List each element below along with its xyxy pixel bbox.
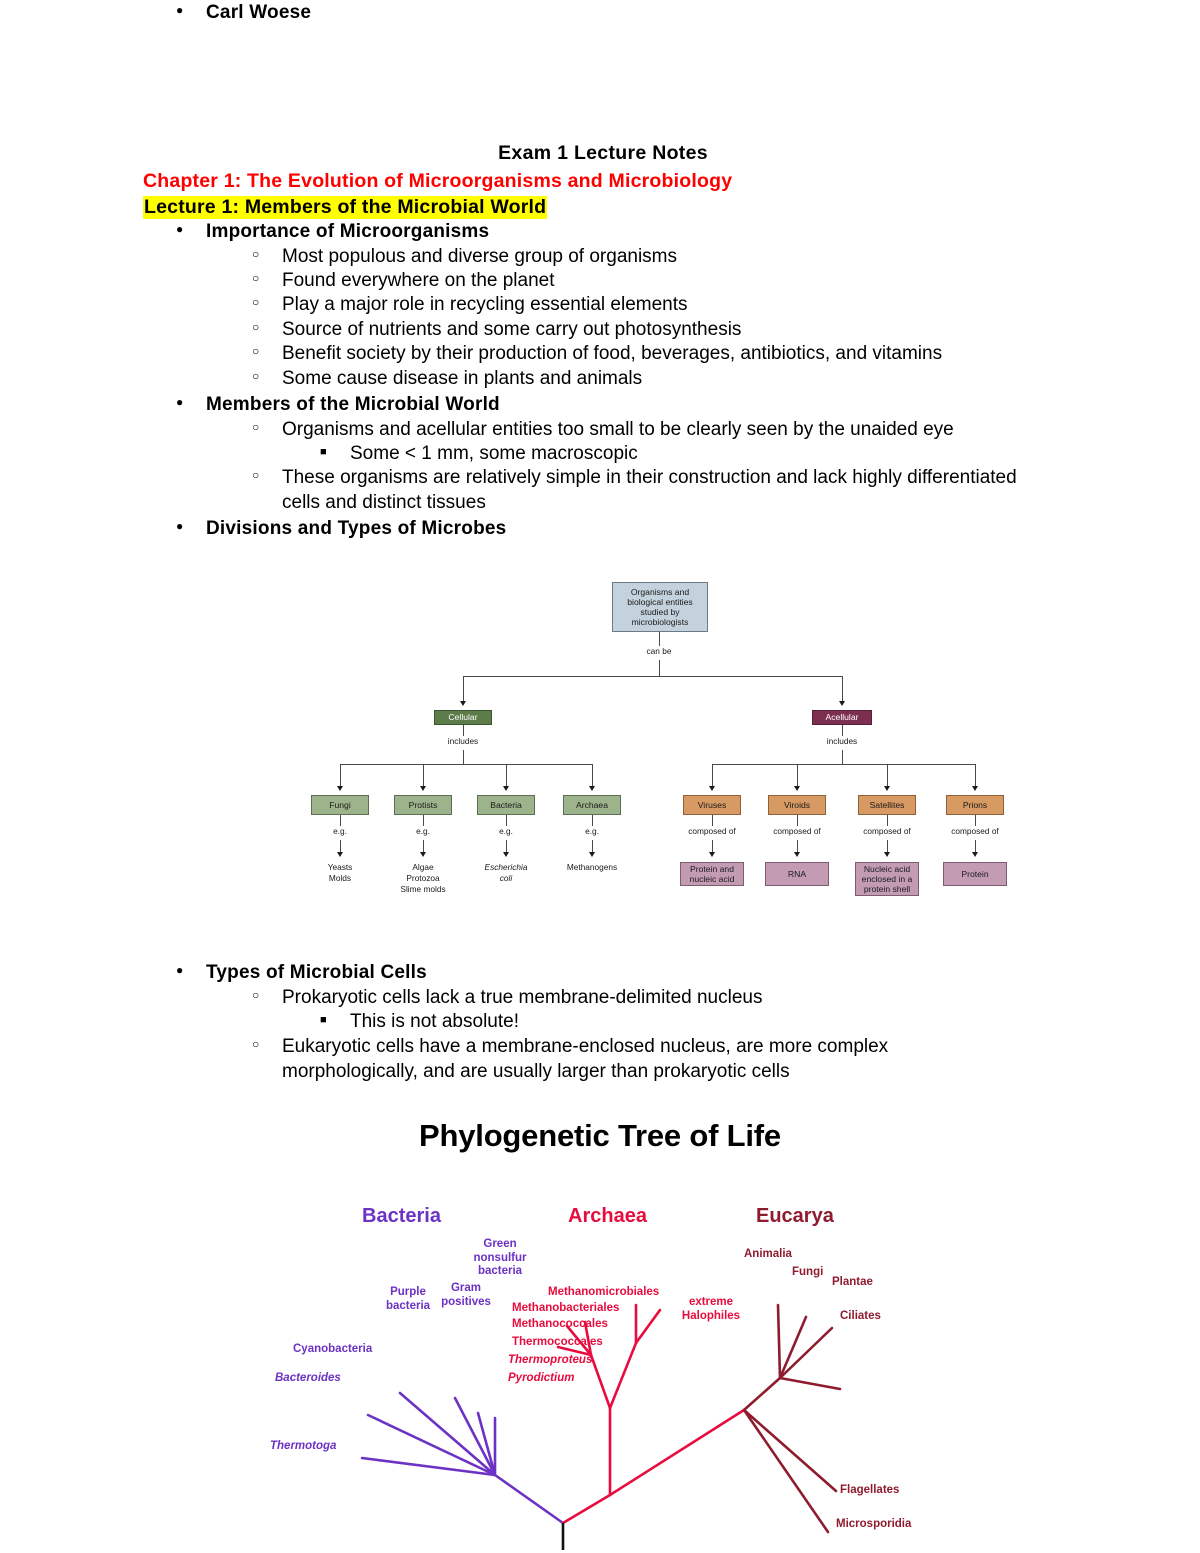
bullet-disc-icon <box>176 0 206 20</box>
bullet-disc-icon <box>176 392 206 412</box>
outline-item-l2: Found everywhere on the planet <box>252 268 555 293</box>
taxon-label-eucarya-4: Flagellates <box>840 1484 940 1498</box>
taxon-label-eucarya-5: Microsporidia <box>836 1518 948 1532</box>
arrow-head-icon <box>884 786 890 791</box>
outline-item-l2: Prokaryotic cells lack a true membrane-d… <box>252 985 762 1010</box>
connector-line <box>887 764 888 788</box>
arrow-head-icon <box>794 852 800 857</box>
connector-line <box>842 676 843 703</box>
bullet-disc-icon <box>176 219 206 239</box>
taxon-label-archaea-1: Methanobacteriales <box>512 1302 658 1316</box>
bullet-circle-icon <box>252 317 282 337</box>
bullet-circle-icon <box>252 268 282 288</box>
taxon-label-archaea-6: extreme Halophiles <box>670 1296 752 1323</box>
bullet-square-icon <box>320 441 350 461</box>
page-title: Exam 1 Lecture Notes <box>143 142 1063 165</box>
bullet-circle-icon <box>252 417 282 437</box>
bullet-disc-icon <box>176 516 206 536</box>
connector-line <box>842 725 843 736</box>
connector-line <box>842 750 843 764</box>
flow-composition-box: Protein <box>943 862 1007 886</box>
connector-line <box>712 764 713 788</box>
flow-eg-label: e.g. <box>567 826 617 836</box>
arrow-head-icon <box>884 852 890 857</box>
flow-eg-label: e.g. <box>481 826 531 836</box>
bullet-circle-icon <box>252 244 282 264</box>
flow-composed-of-label: composed of <box>672 826 752 836</box>
connector-line <box>506 815 507 826</box>
connector-line <box>797 815 798 826</box>
bullet-square-icon <box>320 1009 350 1029</box>
taxon-label-archaea-5: Pyrodictium <box>508 1372 608 1386</box>
domain-label-archaea: Archaea <box>568 1205 647 1228</box>
arrow-head-icon <box>503 786 509 791</box>
connector-line <box>797 764 798 788</box>
flow-composition-box: RNA <box>765 862 829 886</box>
flow-type-box-prions: Prions <box>946 795 1004 815</box>
taxon-label-bacteria-4: Bacteroides <box>275 1372 370 1386</box>
connector-line <box>975 764 976 788</box>
outline-item-label: Organisms and acellular entities too sma… <box>282 417 954 442</box>
bullet-disc-icon <box>176 960 206 980</box>
taxon-label-bacteria-0: Green nonsulfur bacteria <box>455 1238 545 1279</box>
flow-type-box-satellites: Satellites <box>858 795 916 815</box>
taxon-label-bacteria-3: Cyanobacteria <box>293 1343 403 1357</box>
document-page: Exam 1 Lecture Notes Chapter 1: The Evol… <box>0 0 1200 1553</box>
arrow-head-icon <box>972 786 978 791</box>
outline-item-l1: Types of Microbial Cells <box>176 960 427 985</box>
flow-composed-of-label: composed of <box>847 826 927 836</box>
connector-line <box>340 815 341 826</box>
outline-item-l2: Source of nutrients and some carry out p… <box>252 317 741 342</box>
outline-item-l1: Members of the Microbial World <box>176 392 500 417</box>
arrow-head-icon <box>420 852 426 857</box>
bullet-circle-icon <box>252 1034 282 1054</box>
domain-label-eucarya: Eucarya <box>756 1205 834 1228</box>
bullet-circle-icon <box>252 341 282 361</box>
connector-line <box>463 676 842 677</box>
taxon-label-eucarya-3: Ciliates <box>840 1310 924 1324</box>
outline-item-label: Carl Woese <box>206 0 311 25</box>
connector-line <box>463 676 464 703</box>
outline-item-l2: Some cause disease in plants and animals <box>252 366 642 391</box>
connector-line <box>887 815 888 826</box>
domain-label-bacteria: Bacteria <box>362 1205 441 1228</box>
flow-example-text: Algae Protozoa Slime molds <box>375 862 471 894</box>
connector-line <box>423 764 424 788</box>
outline-item-label: These organisms are relatively simple in… <box>282 465 1022 515</box>
outline-item-label: Types of Microbial Cells <box>206 960 427 985</box>
arrow-head-icon <box>709 786 715 791</box>
phylogenetic-tree-figure: Phylogenetic Tree of Life <box>0 1110 1200 1550</box>
outline-item-label: Prokaryotic cells lack a true membrane-d… <box>282 985 762 1010</box>
connector-line <box>712 764 975 765</box>
flow-branch-connector-label: includes <box>812 736 872 746</box>
arrow-head-icon <box>709 852 715 857</box>
outline-item-label: Benefit society by their production of f… <box>282 341 942 366</box>
taxon-label-bacteria-2: Purple bacteria <box>370 1286 446 1313</box>
bullet-circle-icon <box>252 292 282 312</box>
bullet-circle-icon <box>252 366 282 386</box>
connector-line <box>712 815 713 826</box>
flow-example-text: Methanogens <box>544 862 640 873</box>
arrow-head-icon <box>589 852 595 857</box>
outline-item-l1: Carl Woese <box>176 0 311 25</box>
outline-item-l2: Eukaryotic cells have a membrane-enclose… <box>252 1034 1022 1084</box>
taxon-label-archaea-2: Methanococcales <box>512 1318 647 1332</box>
arrow-head-icon <box>337 786 343 791</box>
arrow-head-icon <box>337 852 343 857</box>
arrow-head-icon <box>794 786 800 791</box>
outline-item-label: Divisions and Types of Microbes <box>206 516 506 541</box>
flow-composed-of-label: composed of <box>935 826 1015 836</box>
lecture-heading: Lecture 1: Members of the Microbial Worl… <box>143 196 547 219</box>
arrow-head-icon <box>460 701 466 706</box>
outline-item-l1: Divisions and Types of Microbes <box>176 516 506 541</box>
outline-item-label: Eukaryotic cells have a membrane-enclose… <box>282 1034 1022 1084</box>
arrow-head-icon <box>589 786 595 791</box>
taxon-label-bacteria-5: Thermotoga <box>270 1440 370 1454</box>
taxon-label-archaea-3: Thermococcales <box>512 1336 634 1350</box>
outline-item-l3: Some < 1 mm, some macroscopic <box>320 441 638 466</box>
connector-line <box>659 632 660 646</box>
taxon-label-eucarya-2: Plantae <box>832 1276 908 1290</box>
taxon-label-archaea-4: Thermoproteus <box>508 1354 623 1368</box>
chapter-heading: Chapter 1: The Evolution of Microorganis… <box>143 170 732 193</box>
connector-line <box>659 660 660 676</box>
flow-example-text: Yeasts Molds <box>292 862 388 884</box>
flow-composed-of-label: composed of <box>757 826 837 836</box>
flow-type-box-viruses: Viruses <box>683 795 741 815</box>
flow-type-box-fungi: Fungi <box>311 795 369 815</box>
connector-line <box>592 764 593 788</box>
bullet-circle-icon <box>252 465 282 485</box>
outline-item-label: Some cause disease in plants and animals <box>282 366 642 391</box>
connector-line <box>975 815 976 826</box>
bullet-circle-icon <box>252 985 282 1005</box>
outline-item-label: Found everywhere on the planet <box>282 268 555 293</box>
connector-line <box>592 815 593 826</box>
flow-example-text: Escherichia coli <box>458 862 554 884</box>
outline-item-l2: Play a major role in recycling essential… <box>252 292 688 317</box>
outline-item-l2: Most populous and diverse group of organ… <box>252 244 677 269</box>
flow-branch-connector-label: includes <box>433 736 493 746</box>
connector-line <box>340 764 592 765</box>
connector-line <box>463 725 464 736</box>
outline-item-l3: This is not absolute! <box>320 1009 519 1034</box>
outline-item-label: Source of nutrients and some carry out p… <box>282 317 741 342</box>
flow-composition-box: Protein and nucleic acid <box>680 862 744 886</box>
outline-item-l1: Importance of Microorganisms <box>176 219 489 244</box>
flow-composition-box: Nucleic acid enclosed in a protein shell <box>855 862 919 896</box>
flow-type-box-archaea: Archaea <box>563 795 621 815</box>
taxon-label-eucarya-0: Animalia <box>744 1248 826 1262</box>
connector-line <box>340 764 341 788</box>
outline-item-l2: These organisms are relatively simple in… <box>252 465 1022 515</box>
microbe-divisions-diagram: Organisms and biological entities studie… <box>0 560 1200 950</box>
connector-line <box>463 750 464 764</box>
flow-eg-label: e.g. <box>398 826 448 836</box>
flow-eg-label: e.g. <box>315 826 365 836</box>
connector-line <box>506 764 507 788</box>
outline-item-label: Some < 1 mm, some macroscopic <box>350 441 638 466</box>
flow-type-box-viroids: Viroids <box>768 795 826 815</box>
outline-item-label: Importance of Microorganisms <box>206 219 489 244</box>
outline-item-l2: Organisms and acellular entities too sma… <box>252 417 954 442</box>
flow-branch-box-acellular: Acellular <box>812 710 872 725</box>
connector-line <box>423 815 424 826</box>
flow-root-box: Organisms and biological entities studie… <box>612 582 708 632</box>
arrow-head-icon <box>839 701 845 706</box>
outline-item-l2: Benefit society by their production of f… <box>252 341 942 366</box>
arrow-head-icon <box>420 786 426 791</box>
flow-branch-box-cellular: Cellular <box>434 710 492 725</box>
flow-root-connector-label: can be <box>629 646 689 656</box>
flow-type-box-bacteria: Bacteria <box>477 795 535 815</box>
arrow-head-icon <box>503 852 509 857</box>
outline-item-label: Most populous and diverse group of organ… <box>282 244 677 269</box>
outline-item-label: Play a major role in recycling essential… <box>282 292 688 317</box>
outline-item-label: Members of the Microbial World <box>206 392 500 417</box>
outline-item-label: This is not absolute! <box>350 1009 519 1034</box>
flow-type-box-protists: Protists <box>394 795 452 815</box>
arrow-head-icon <box>972 852 978 857</box>
